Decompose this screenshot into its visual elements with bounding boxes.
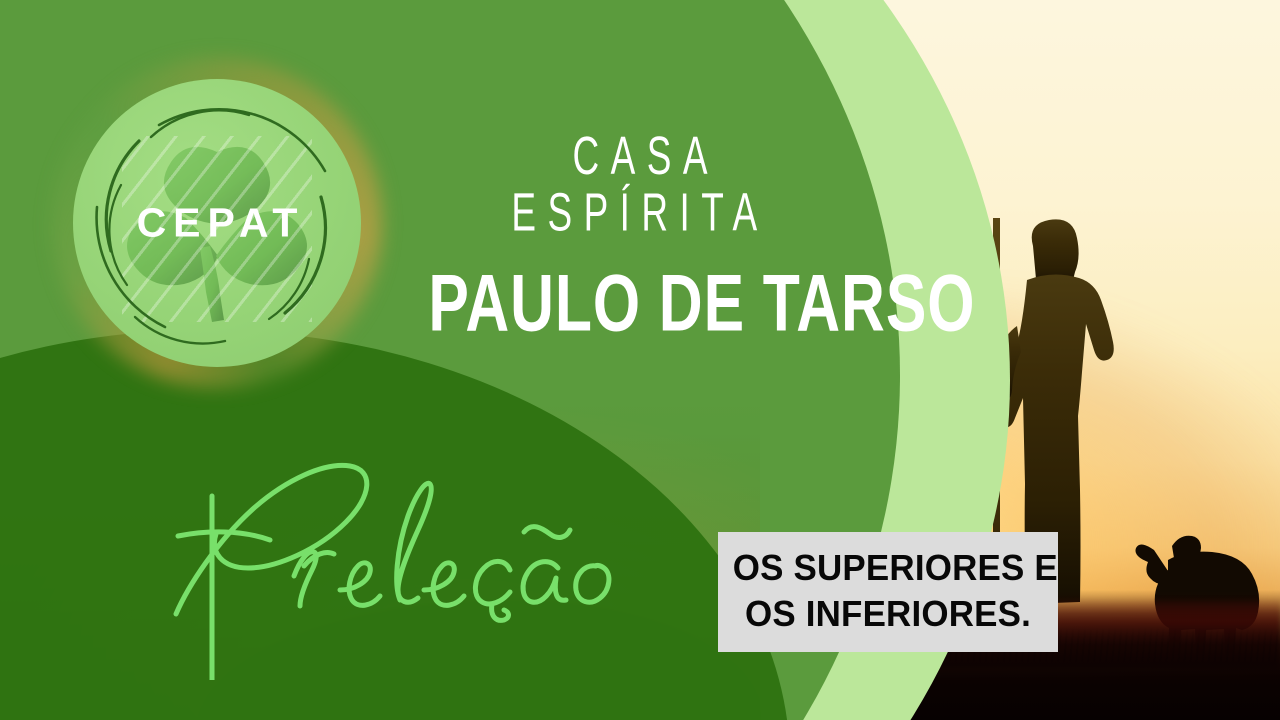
kicker-text: CASA ESPÍRITA — [438, 128, 843, 241]
page-title: PAULO DE TARSO — [428, 262, 851, 343]
cepat-logo[interactable]: CEPAT — [52, 58, 382, 388]
logo-disc: CEPAT — [73, 79, 361, 367]
caption-line-1: OS SUPERIORES E — [733, 545, 1043, 591]
video-thumbnail: CEPAT CASA ESPÍRITA PAULO DE TARSO — [0, 0, 1280, 720]
caption-line-2: OS INFERIORES. — [733, 591, 1043, 637]
title-block: CASA ESPÍRITA PAULO DE TARSO — [410, 128, 870, 328]
logo-wordmark: CEPAT — [73, 203, 361, 244]
lecture-topic-caption: OS SUPERIORES E OS INFERIORES. — [718, 532, 1058, 652]
